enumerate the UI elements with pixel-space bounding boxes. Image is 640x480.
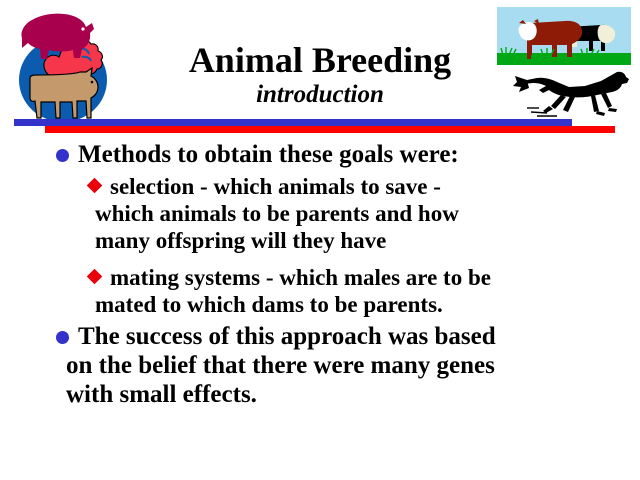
bullet-line-3: with small effects. bbox=[66, 380, 640, 409]
divider-bar-blue bbox=[14, 119, 572, 126]
bullet-line-2: on the belief that there were many genes bbox=[66, 351, 640, 380]
bullet-item-success: The success of this approach was based o… bbox=[0, 322, 640, 409]
bullet-item-mating-systems: mating systems - which males are to be m… bbox=[0, 264, 640, 318]
bullet-diamond-icon bbox=[87, 269, 103, 285]
pig-eye bbox=[81, 27, 84, 30]
slide-header: Animal Breeding introduction bbox=[0, 0, 640, 137]
bullet-item-methods: Methods to obtain these goals were: bbox=[0, 140, 640, 169]
livestock-logo bbox=[6, 2, 118, 124]
bullet-line-3: many offspring will they have bbox=[95, 227, 640, 254]
slide-root: Animal Breeding introduction bbox=[0, 0, 640, 480]
sub-bullet-group: selection - which animals to save - whic… bbox=[0, 173, 640, 318]
bullet-line-2: which animals to be parents and how bbox=[95, 200, 640, 227]
slide-body: Methods to obtain these goals were: sele… bbox=[0, 140, 640, 409]
bullet-line-2: mated to which dams to be parents. bbox=[95, 291, 640, 318]
bullet-spacer bbox=[0, 254, 640, 260]
bullet-circle-icon bbox=[56, 149, 69, 162]
galloping-horse-image bbox=[513, 68, 635, 120]
cattle-pasture-image bbox=[497, 7, 631, 65]
page-subtitle: introduction bbox=[150, 81, 490, 109]
bullet-text: selection - which animals to save - whic… bbox=[110, 173, 640, 254]
bullet-line-1: mating systems - which males are to be bbox=[110, 265, 491, 290]
bullet-text: mating systems - which males are to be m… bbox=[110, 264, 640, 318]
bullet-line-1: The success of this approach was based bbox=[78, 323, 496, 350]
divider-bar-red bbox=[45, 126, 615, 133]
bullet-diamond-icon bbox=[87, 178, 103, 194]
bullet-line-1: selection - which animals to save - bbox=[110, 174, 441, 199]
bullet-item-selection: selection - which animals to save - whic… bbox=[0, 173, 640, 254]
title-block: Animal Breeding introduction bbox=[150, 40, 490, 109]
horse-silhouette bbox=[513, 72, 629, 116]
bullet-text: Methods to obtain these goals were: bbox=[78, 140, 640, 169]
page-title: Animal Breeding bbox=[150, 40, 490, 80]
bullet-circle-icon bbox=[56, 331, 69, 344]
bullet-text: The success of this approach was based o… bbox=[78, 322, 640, 409]
grass-ground bbox=[497, 53, 631, 65]
cow-eye bbox=[91, 81, 94, 84]
